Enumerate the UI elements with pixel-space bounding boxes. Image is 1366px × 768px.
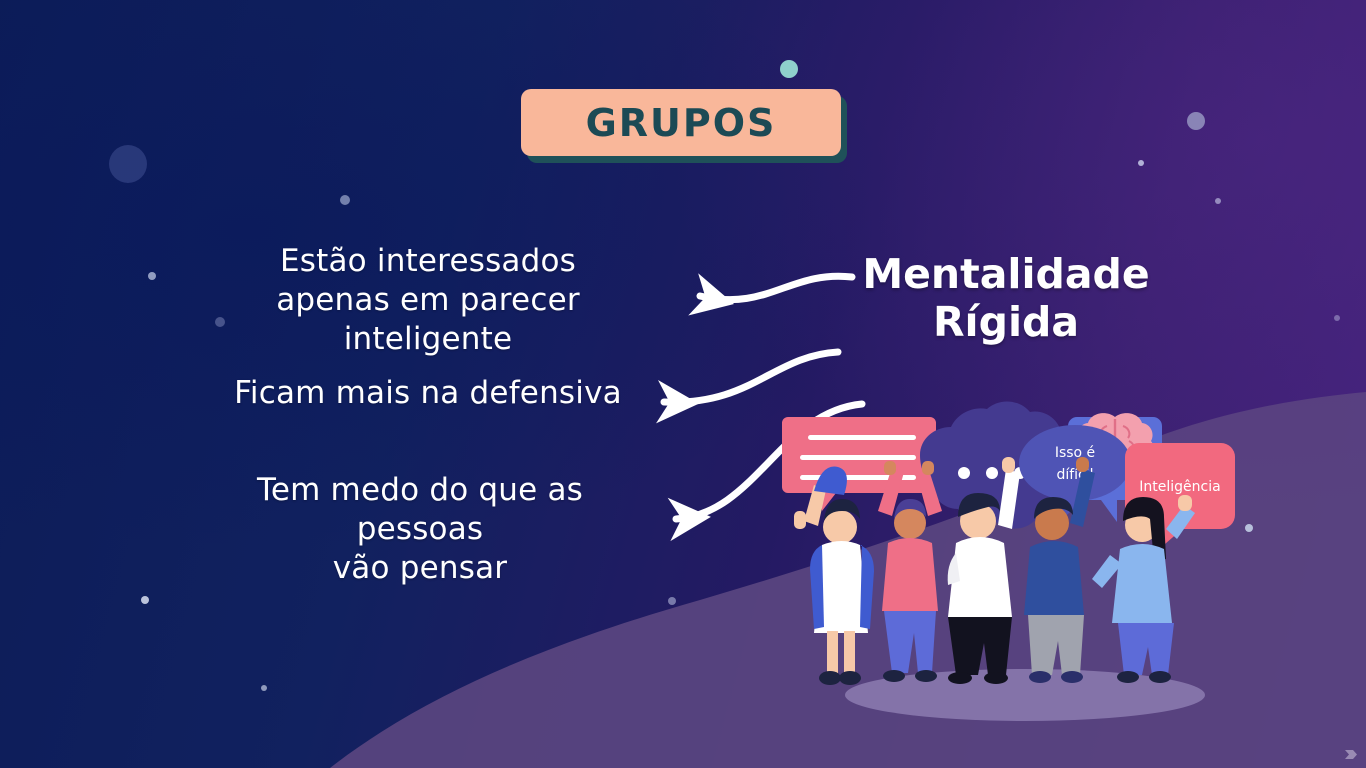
group-illustration: Isso é dífícil Inteligência — [770, 395, 1240, 735]
watermark-logo-icon — [1344, 749, 1360, 760]
lines-speech-bubble — [782, 417, 936, 511]
person-2 — [878, 461, 942, 682]
bubble-line-2 — [800, 455, 916, 460]
inteligencia-label: Inteligência — [1139, 479, 1220, 495]
person-1 — [794, 467, 874, 686]
cloud-dot-2 — [986, 467, 998, 479]
slide-canvas: GRUPOS Estão interessados apenas em pare… — [0, 0, 1366, 768]
watermark — [1344, 749, 1360, 760]
isso-e-dificil-line-1: Isso é — [1055, 445, 1095, 461]
arrow-to-bullet-1 — [700, 276, 852, 299]
bubble-line-1 — [808, 435, 916, 440]
person-5 — [1092, 495, 1195, 683]
cloud-dot-1 — [958, 467, 970, 479]
